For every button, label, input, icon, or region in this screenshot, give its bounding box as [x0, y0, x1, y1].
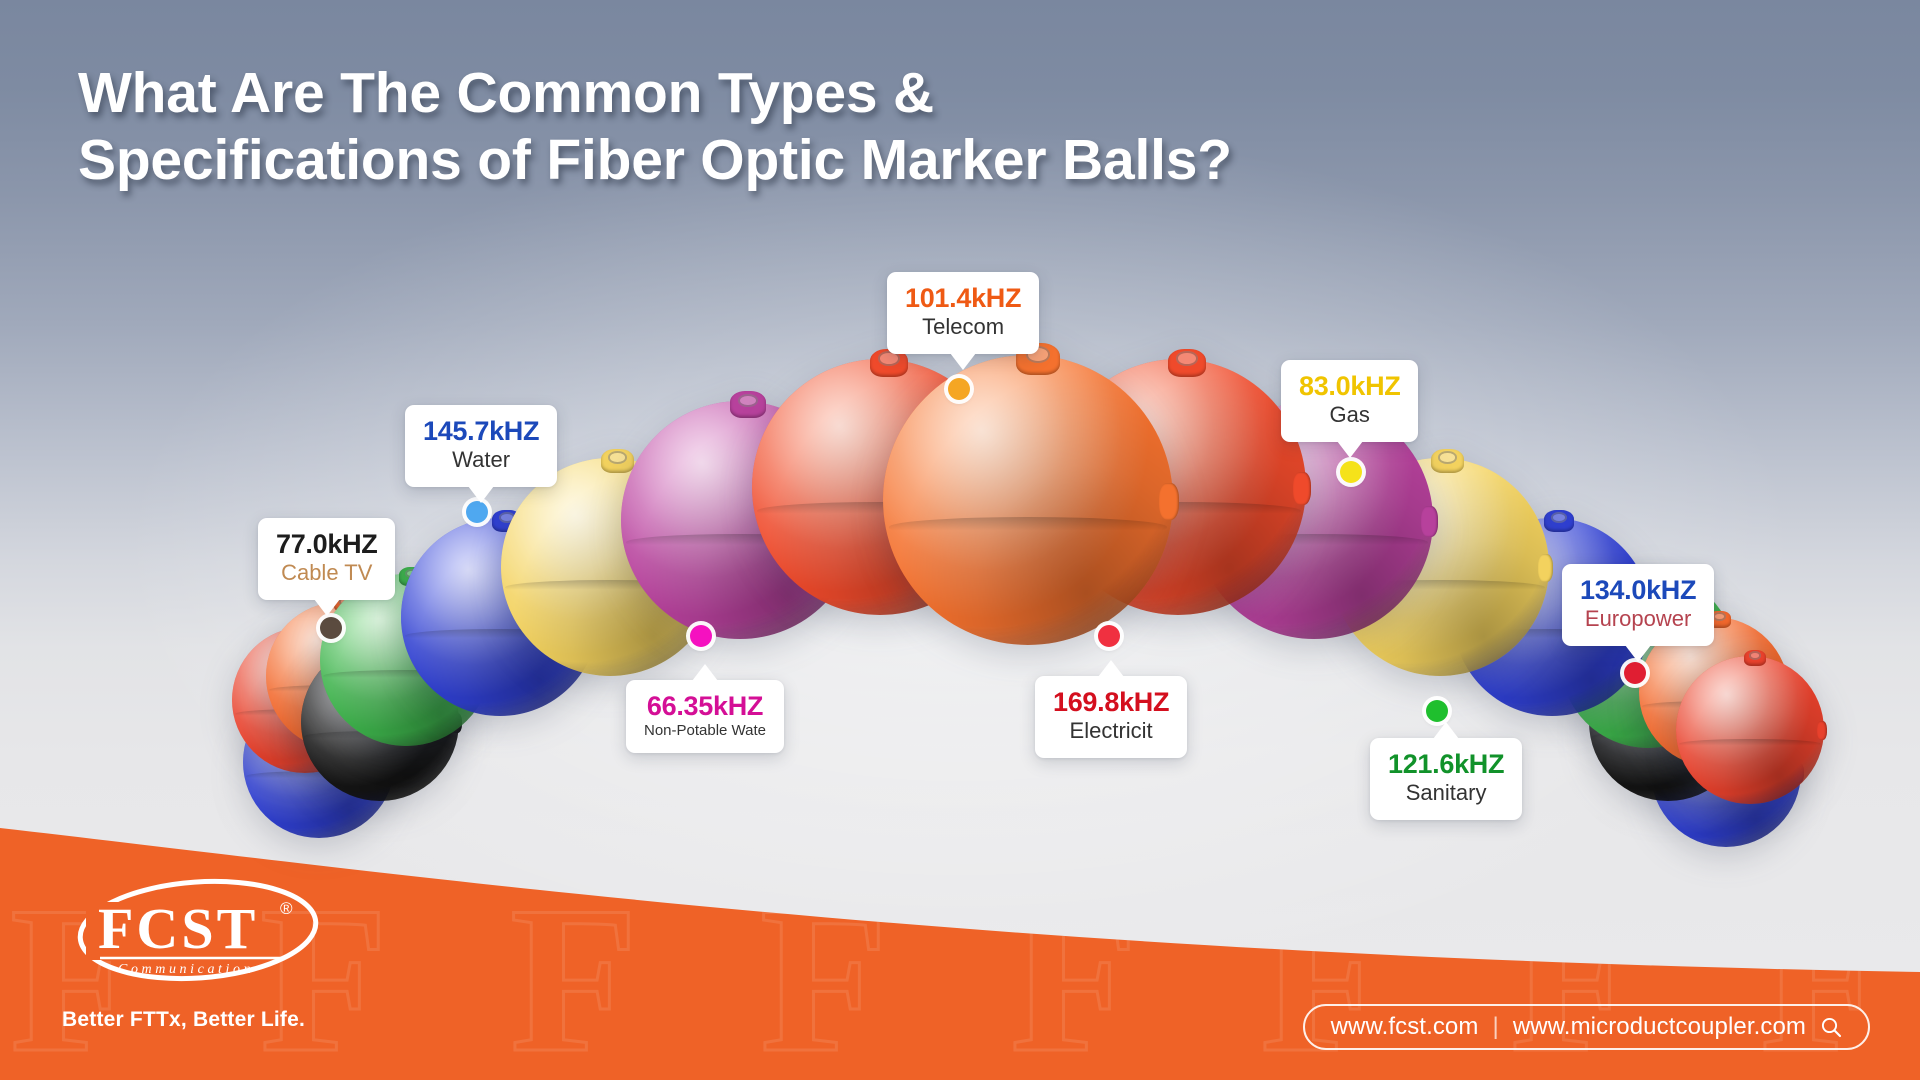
callout-tail: [1098, 660, 1124, 677]
callout-frequency-electricity: 169.8kHZ: [1053, 687, 1169, 717]
ball-lug: [1538, 554, 1553, 582]
callout-dot-water[interactable]: [466, 501, 488, 523]
ball-body: [1676, 656, 1824, 804]
callout-frequency-gas: 83.0kHZ: [1299, 371, 1400, 401]
ball-shading: [1676, 656, 1824, 804]
ball-valve-cap-icon: [1744, 650, 1766, 666]
callout-card-telecom[interactable]: 101.4kHZTelecom: [887, 272, 1039, 354]
callout-label-cable-tv: Cable TV: [276, 560, 377, 586]
ball-lug: [1817, 721, 1827, 740]
callout-label-telecom: Telecom: [905, 314, 1021, 340]
callout-label-europower: Europower: [1580, 606, 1696, 632]
callout-label-gas: Gas: [1299, 402, 1400, 428]
ball-lug: [1159, 483, 1179, 521]
callout-frequency-europower: 134.0kHZ: [1580, 575, 1696, 605]
ball-lug: [1421, 506, 1438, 537]
callout-card-cable-tv[interactable]: 77.0kHZCable TV: [258, 518, 395, 600]
callout-label-water: Water: [423, 447, 539, 473]
callout-label-non-potable-water: Non-Potable Wate: [644, 722, 766, 740]
callout-card-europower[interactable]: 134.0kHZEuropower: [1562, 564, 1714, 646]
callout-dot-telecom[interactable]: [948, 378, 970, 400]
callout-frequency-sanitary: 121.6kHZ: [1388, 749, 1504, 779]
ball-valve-cap-icon: [1431, 449, 1464, 473]
callout-dot-cable-tv[interactable]: [320, 617, 342, 639]
callout-tail: [950, 353, 976, 370]
callout-dot-non-potable-water[interactable]: [690, 625, 712, 647]
ball-shading: [883, 355, 1173, 645]
callout-frequency-non-potable-water: 66.35kHZ: [644, 691, 766, 721]
callout-frequency-cable-tv: 77.0kHZ: [276, 529, 377, 559]
ball-valve-cap-icon: [1168, 349, 1206, 377]
callout-card-electricity[interactable]: 169.8kHZElectricit: [1035, 676, 1187, 758]
infographic-canvas: What Are The Common Types & Specificatio…: [0, 0, 1920, 1080]
callout-dot-sanitary[interactable]: [1426, 700, 1448, 722]
callout-tail: [692, 664, 718, 681]
callout-tail: [314, 599, 340, 616]
callout-card-gas[interactable]: 83.0kHZGas: [1281, 360, 1418, 442]
ball-orange-center: [883, 355, 1173, 645]
callout-tail: [468, 486, 494, 503]
ball-valve-cap-icon: [730, 391, 766, 417]
callout-tail: [1625, 645, 1651, 662]
callout-tail: [1433, 722, 1459, 739]
callout-label-electricity: Electricit: [1053, 718, 1169, 744]
callout-label-sanitary: Sanitary: [1388, 780, 1504, 806]
callout-frequency-telecom: 101.4kHZ: [905, 283, 1021, 313]
callout-dot-gas[interactable]: [1340, 461, 1362, 483]
callout-card-water[interactable]: 145.7kHZWater: [405, 405, 557, 487]
callout-frequency-water: 145.7kHZ: [423, 416, 539, 446]
ball-red-far-right: [1676, 656, 1824, 804]
callout-card-non-potable-water[interactable]: 66.35kHZNon-Potable Wate: [626, 680, 784, 753]
callout-dot-electricity[interactable]: [1098, 625, 1120, 647]
ball-valve-cap-icon: [1544, 510, 1574, 532]
ball-lug: [1293, 472, 1311, 505]
ball-body: [883, 355, 1173, 645]
callout-card-sanitary[interactable]: 121.6kHZSanitary: [1370, 738, 1522, 820]
ball-valve-cap-icon: [601, 449, 634, 473]
callout-dot-europower[interactable]: [1624, 662, 1646, 684]
callout-tail: [1337, 441, 1363, 458]
